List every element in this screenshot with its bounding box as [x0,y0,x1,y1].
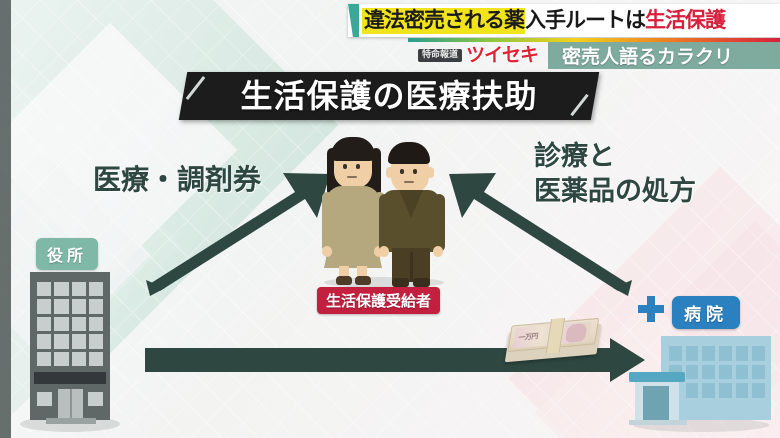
woman-hand-left [322,246,332,257]
woman-eye-left [343,164,347,169]
welfare-recipient-badge-text: 生活保護受給者 [326,292,431,310]
hospital-steps [629,420,687,425]
left-flow-label-text: 医療・調剤券 [93,163,261,196]
woman-shoe-right [355,276,371,285]
headline-accent: 生活保護 [645,8,727,34]
man-arm-right [433,194,445,252]
woman-hair-top [331,137,375,161]
left-edge-bar [0,0,11,438]
woman-eye-right [356,164,360,169]
man-figure [380,140,446,284]
government-office-icon [18,268,122,434]
program-logo: 特命報道 ツイセキ [408,46,538,65]
medical-cross-icon [638,296,664,322]
hospital-icon [625,326,775,438]
program-banner: 特命報道 ツイセキ 密売人語るカラクリ [408,41,780,69]
office-lower-window-left [37,392,52,406]
office-signboard [34,372,106,384]
right-flow-label-line2: 医薬品の処方 [534,175,696,210]
woman-arm-left [322,192,333,252]
right-flow-label-line1: 診療と [534,140,696,175]
office-badge: 役所 [36,238,98,270]
right-flow-label: 診療と 医薬品の処方 [534,140,696,209]
office-badge-text: 役所 [47,246,87,265]
man-hand-left [379,246,389,257]
hospital-badge: 病院 [672,296,740,329]
office-door-split [70,389,72,420]
infographic-screen: 違法密売される薬 入手ルートは 生活保護 特命報道 ツイセキ 密売人語るカラクリ… [0,0,780,438]
yen-banknote-bundle-icon: 一万円 [503,314,603,372]
man-hair [388,142,430,164]
cash-denomination-text: 一万円 [518,331,539,343]
banner-accent-tick [348,4,359,37]
man-eye-left [400,169,404,174]
hospital-canopy [629,372,685,382]
hospital-door [643,386,669,420]
main-title: 生活保護の医療扶助 [183,72,595,120]
man-eye-right [413,169,417,174]
news-headline-banner: 違法密売される薬 入手ルートは 生活保護 [348,4,780,37]
headline-mid: 入手ルートは [525,8,645,34]
man-shoe-left [392,278,409,287]
program-logo-name: ツイセキ [466,46,538,65]
man-mouth [404,181,414,183]
left-flow-label: 医療・調剤券 [93,158,261,198]
hospital-badge-text: 病院 [684,305,728,325]
man-shoe-right [413,278,430,287]
program-subtitle: 密売人語るカラクリ [562,42,733,69]
program-subtitle-tab: 密売人語るカラクリ [548,41,780,69]
welfare-recipient-badge: 生活保護受給者 [317,287,440,314]
main-title-text: 生活保護の医療扶助 [240,80,537,112]
office-windows [37,282,103,366]
rainbow-strip [408,38,780,42]
woman-mouth [347,176,357,178]
program-logo-box: 特命報道 [418,49,462,62]
man-pants-split [410,252,413,282]
woman-shoe-left [336,276,352,285]
headline-highlight: 違法密売される薬 [362,8,525,34]
man-hand-right [433,246,443,257]
elderly-couple-icon [318,134,450,286]
office-lower-window-right [88,392,103,406]
man-arm-left [379,194,391,252]
woman-figure [322,134,386,284]
office-steps [46,418,96,424]
